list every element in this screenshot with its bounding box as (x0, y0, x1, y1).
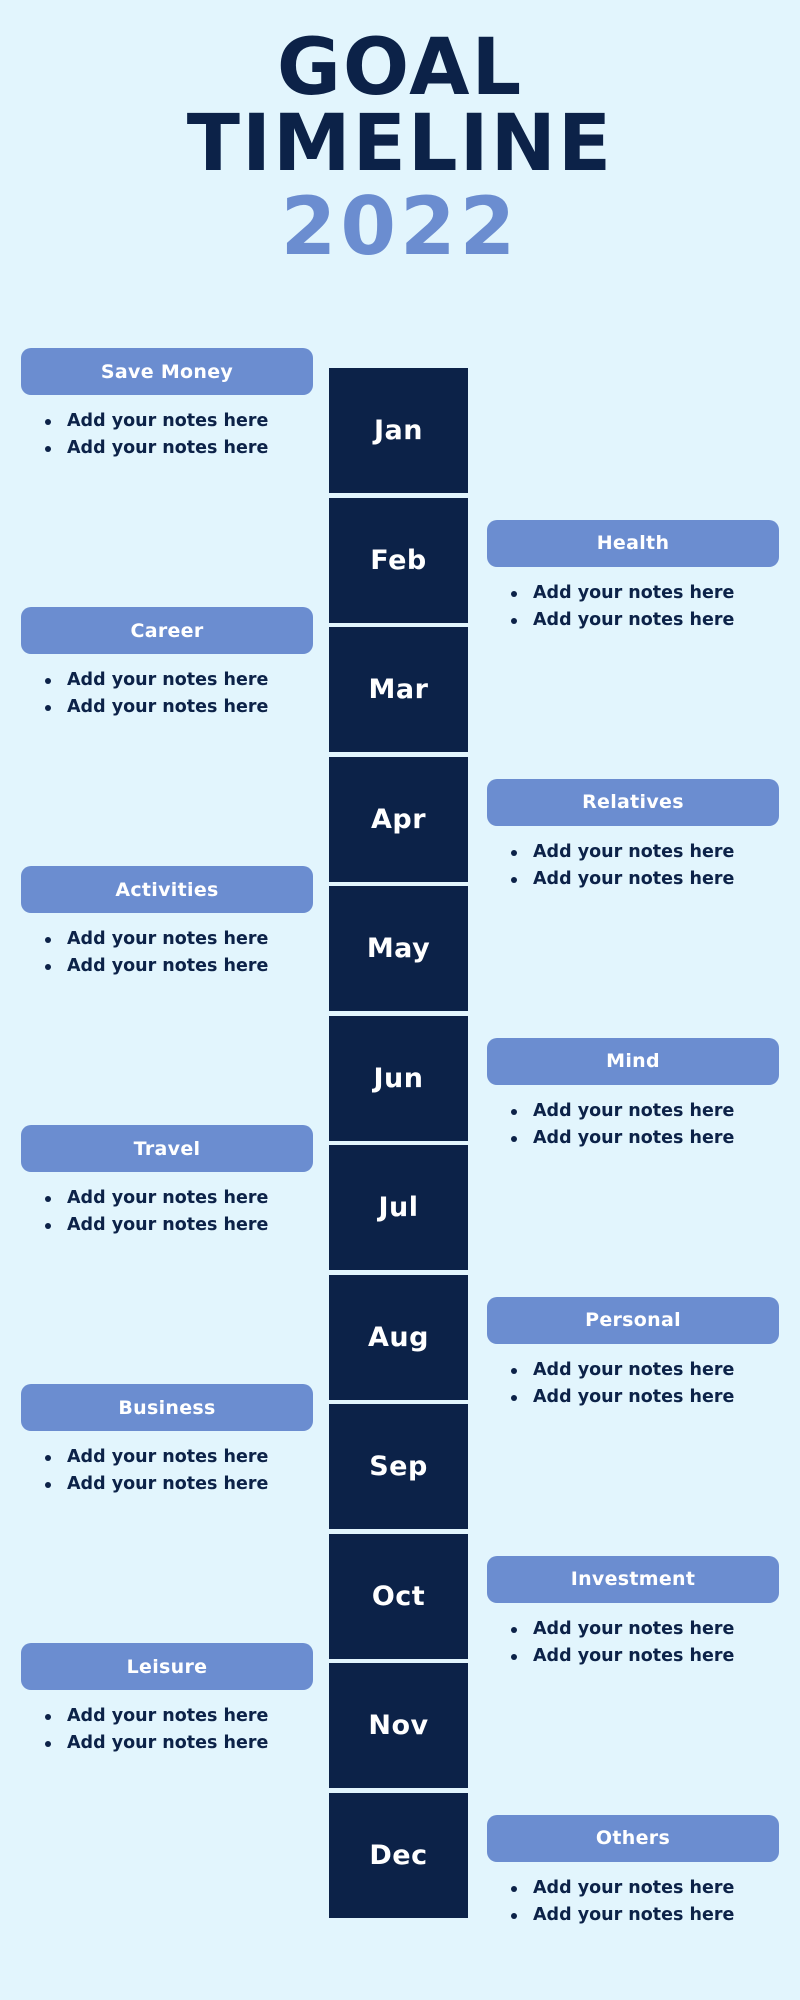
timeline-row: JulTravelAdd your notes hereAdd your not… (0, 1145, 800, 1275)
goal-note-item[interactable]: Add your notes here (511, 1616, 779, 1643)
goal-title-pill[interactable]: Travel (21, 1125, 313, 1172)
page-title-line-2: TIMELINE (0, 106, 800, 182)
month-chip-jan[interactable]: Jan (329, 368, 468, 493)
goal-title-pill[interactable]: Others (487, 1815, 779, 1862)
goal-notes-list: Add your notes hereAdd your notes here (487, 580, 779, 634)
goal-notes-list: Add your notes hereAdd your notes here (487, 1357, 779, 1411)
goal-card-relatives: RelativesAdd your notes hereAdd your not… (487, 779, 779, 893)
goal-note-item[interactable]: Add your notes here (511, 1902, 779, 1929)
goal-note-item[interactable]: Add your notes here (45, 1703, 313, 1730)
goal-title-pill[interactable]: Mind (487, 1038, 779, 1085)
timeline-row: SepBusinessAdd your notes hereAdd your n… (0, 1404, 800, 1534)
month-chip-feb[interactable]: Feb (329, 498, 468, 623)
goal-note-item[interactable]: Add your notes here (45, 1471, 313, 1498)
timeline-row: DecOthersAdd your notes hereAdd your not… (0, 1793, 800, 1923)
goal-title-pill[interactable]: Save Money (21, 348, 313, 395)
goal-title-pill[interactable]: Investment (487, 1556, 779, 1603)
goal-card-save-money: Save MoneyAdd your notes hereAdd your no… (21, 348, 313, 462)
goal-notes-list: Add your notes hereAdd your notes here (21, 1444, 313, 1498)
goal-card-leisure: LeisureAdd your notes hereAdd your notes… (21, 1643, 313, 1757)
timeline-row: NovLeisureAdd your notes hereAdd your no… (0, 1663, 800, 1793)
goal-notes-list: Add your notes hereAdd your notes here (487, 1616, 779, 1670)
goal-note-item[interactable]: Add your notes here (511, 580, 779, 607)
page-title-year: 2022 (0, 185, 800, 269)
goal-notes-list: Add your notes hereAdd your notes here (21, 408, 313, 462)
goal-title-pill[interactable]: Relatives (487, 779, 779, 826)
month-chip-oct[interactable]: Oct (329, 1534, 468, 1659)
month-chip-nov[interactable]: Nov (329, 1663, 468, 1788)
goal-notes-list: Add your notes hereAdd your notes here (487, 1875, 779, 1929)
goal-title-pill[interactable]: Activities (21, 866, 313, 913)
goal-note-item[interactable]: Add your notes here (45, 694, 313, 721)
month-chip-sep[interactable]: Sep (329, 1404, 468, 1529)
goal-card-mind: MindAdd your notes hereAdd your notes he… (487, 1038, 779, 1152)
goal-card-travel: TravelAdd your notes hereAdd your notes … (21, 1125, 313, 1239)
month-chip-apr[interactable]: Apr (329, 757, 468, 882)
goal-title-pill[interactable]: Health (487, 520, 779, 567)
goal-note-item[interactable]: Add your notes here (45, 953, 313, 980)
goal-card-health: HealthAdd your notes hereAdd your notes … (487, 520, 779, 634)
goal-card-career: CareerAdd your notes hereAdd your notes … (21, 607, 313, 721)
goal-title-pill[interactable]: Personal (487, 1297, 779, 1344)
goal-note-item[interactable]: Add your notes here (45, 435, 313, 462)
goal-note-item[interactable]: Add your notes here (511, 1875, 779, 1902)
goal-card-activities: ActivitiesAdd your notes hereAdd your no… (21, 866, 313, 980)
goal-note-item[interactable]: Add your notes here (45, 667, 313, 694)
goal-note-item[interactable]: Add your notes here (45, 1212, 313, 1239)
goal-note-item[interactable]: Add your notes here (45, 408, 313, 435)
goal-title-pill[interactable]: Career (21, 607, 313, 654)
goal-note-item[interactable]: Add your notes here (45, 1185, 313, 1212)
goal-note-item[interactable]: Add your notes here (45, 1730, 313, 1757)
timeline-row: JanSave MoneyAdd your notes hereAdd your… (0, 368, 800, 498)
goal-title-pill[interactable]: Leisure (21, 1643, 313, 1690)
goal-notes-list: Add your notes hereAdd your notes here (21, 1185, 313, 1239)
month-chip-jul[interactable]: Jul (329, 1145, 468, 1270)
goal-card-others: OthersAdd your notes hereAdd your notes … (487, 1815, 779, 1929)
timeline-row: MarCareerAdd your notes hereAdd your not… (0, 627, 800, 757)
month-chip-may[interactable]: May (329, 886, 468, 1011)
month-chip-mar[interactable]: Mar (329, 627, 468, 752)
page-title-line-1: GOAL (0, 30, 800, 106)
goal-note-item[interactable]: Add your notes here (511, 839, 779, 866)
page-header: GOAL TIMELINE 2022 (0, 0, 800, 269)
goal-notes-list: Add your notes hereAdd your notes here (21, 926, 313, 980)
goal-note-item[interactable]: Add your notes here (511, 1098, 779, 1125)
timeline-row: MayActivitiesAdd your notes hereAdd your… (0, 886, 800, 1016)
goal-title-pill[interactable]: Business (21, 1384, 313, 1431)
month-chip-jun[interactable]: Jun (329, 1016, 468, 1141)
goal-card-investment: InvestmentAdd your notes hereAdd your no… (487, 1556, 779, 1670)
month-chip-aug[interactable]: Aug (329, 1275, 468, 1400)
goal-notes-list: Add your notes hereAdd your notes here (487, 839, 779, 893)
goal-card-business: BusinessAdd your notes hereAdd your note… (21, 1384, 313, 1498)
goal-notes-list: Add your notes hereAdd your notes here (487, 1098, 779, 1152)
goal-timeline: JanSave MoneyAdd your notes hereAdd your… (0, 368, 800, 1922)
month-chip-dec[interactable]: Dec (329, 1793, 468, 1918)
goal-notes-list: Add your notes hereAdd your notes here (21, 1703, 313, 1757)
goal-note-item[interactable]: Add your notes here (45, 1444, 313, 1471)
goal-note-item[interactable]: Add your notes here (45, 926, 313, 953)
goal-note-item[interactable]: Add your notes here (511, 1357, 779, 1384)
goal-card-personal: PersonalAdd your notes hereAdd your note… (487, 1297, 779, 1411)
goal-notes-list: Add your notes hereAdd your notes here (21, 667, 313, 721)
